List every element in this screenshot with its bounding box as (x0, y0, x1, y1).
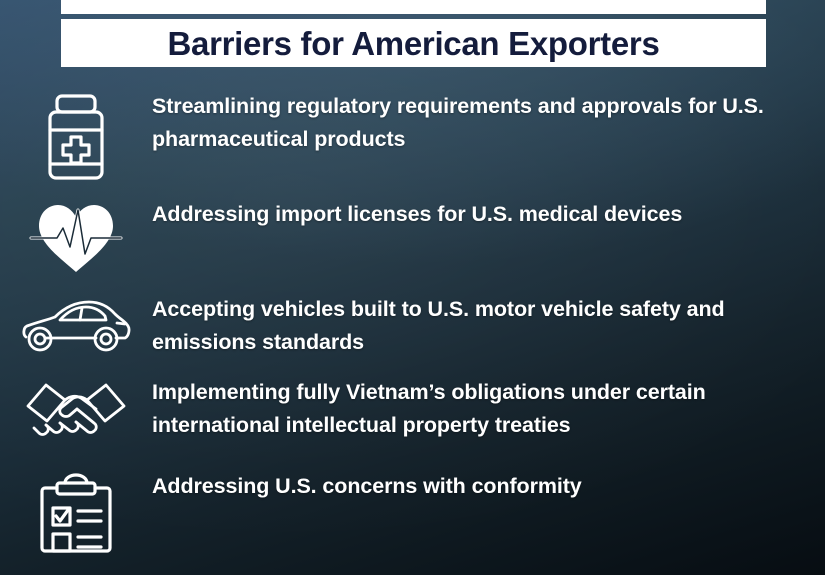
top-cutoff-band (61, 0, 766, 14)
list-item-text: Accepting vehicles built to U.S. motor v… (152, 293, 807, 360)
car-icon (0, 293, 152, 357)
handshake-icon (0, 376, 152, 452)
page-title: Barriers for American Exporters (167, 27, 659, 60)
list-item: Addressing import licenses for U.S. medi… (0, 198, 825, 276)
clipboard-checklist-icon (0, 470, 152, 554)
list-item-text: Addressing U.S. concerns with conformity (152, 470, 608, 503)
infographic-poster: Barriers for American Exporters Streamli… (0, 0, 825, 575)
list-item-text: Addressing import licenses for U.S. medi… (152, 198, 708, 231)
title-band: Barriers for American Exporters (61, 19, 766, 67)
heart-pulse-icon (0, 198, 152, 276)
list-item-text: Implementing fully Vietnam’s obligations… (152, 376, 807, 443)
barriers-list: Streamlining regulatory requirements and… (0, 88, 825, 568)
list-item: Addressing U.S. concerns with conformity (0, 470, 825, 554)
list-item: Implementing fully Vietnam’s obligations… (0, 376, 825, 452)
pill-bottle-icon (0, 90, 152, 182)
list-item-text: Streamlining regulatory requirements and… (152, 90, 807, 157)
list-item: Streamlining regulatory requirements and… (0, 90, 825, 182)
list-item: Accepting vehicles built to U.S. motor v… (0, 293, 825, 360)
